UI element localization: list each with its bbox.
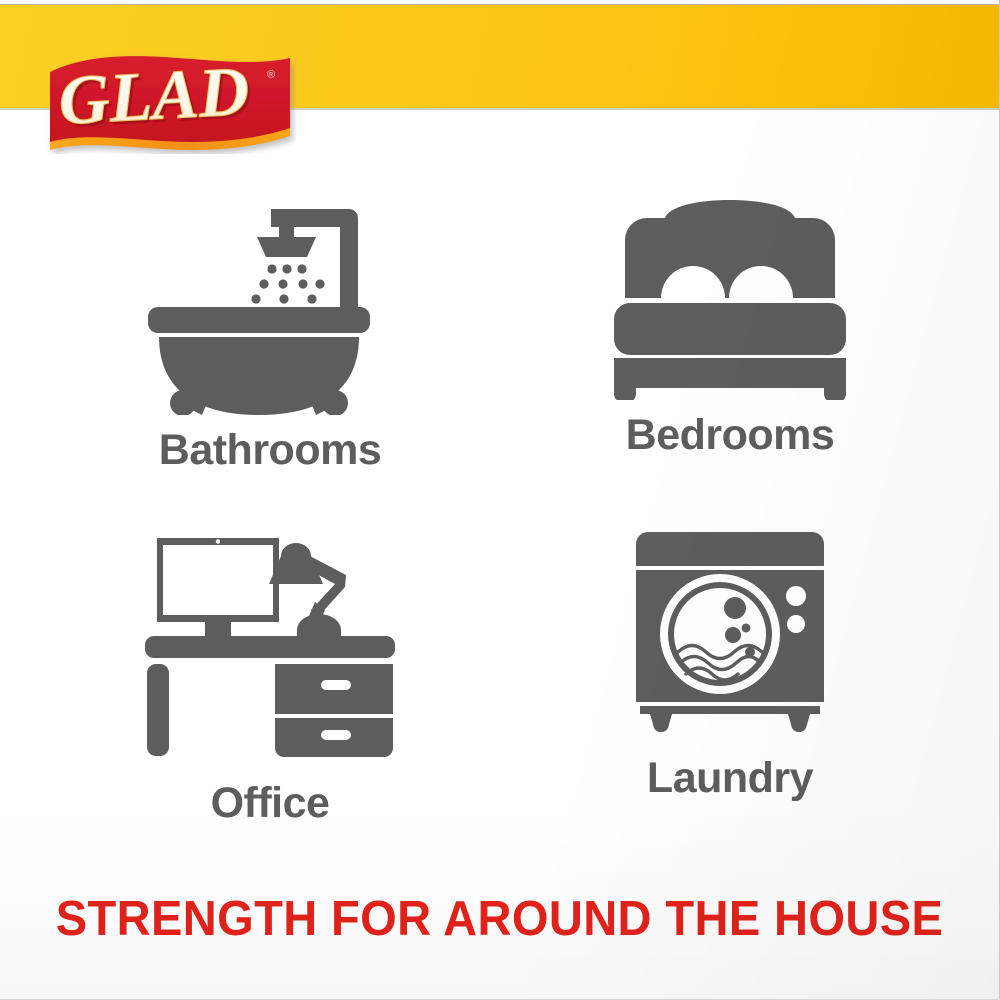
room-icon-grid: Bathrooms — [40, 185, 960, 875]
room-tile-office[interactable]: Office — [40, 530, 500, 875]
tagline: STRENGTH FOR AROUND THE HOUSE — [20, 895, 979, 944]
room-tile-bathrooms[interactable]: Bathrooms — [40, 185, 500, 530]
room-label-bathrooms: Bathrooms — [159, 429, 381, 472]
room-label-laundry: Laundry — [647, 757, 813, 800]
room-label-bedrooms: Bedrooms — [626, 414, 835, 457]
svg-text:GLAD: GLAD — [57, 53, 251, 140]
promo-card: GLAD GLAD ® — [0, 0, 1000, 1000]
bathtub-shower-icon — [40, 185, 500, 415]
room-label-office: Office — [211, 782, 330, 825]
desk-monitor-lamp-icon — [40, 530, 500, 760]
registered-trademark-symbol: ® — [267, 69, 275, 81]
room-tile-bedrooms[interactable]: Bedrooms — [500, 185, 960, 530]
logo-wordmark: GLAD GLAD — [57, 53, 254, 143]
room-tile-laundry[interactable]: Laundry — [500, 530, 960, 875]
bed-icon — [500, 185, 960, 400]
glad-logo[interactable]: GLAD GLAD ® — [44, 52, 296, 154]
washing-machine-icon — [500, 530, 960, 735]
